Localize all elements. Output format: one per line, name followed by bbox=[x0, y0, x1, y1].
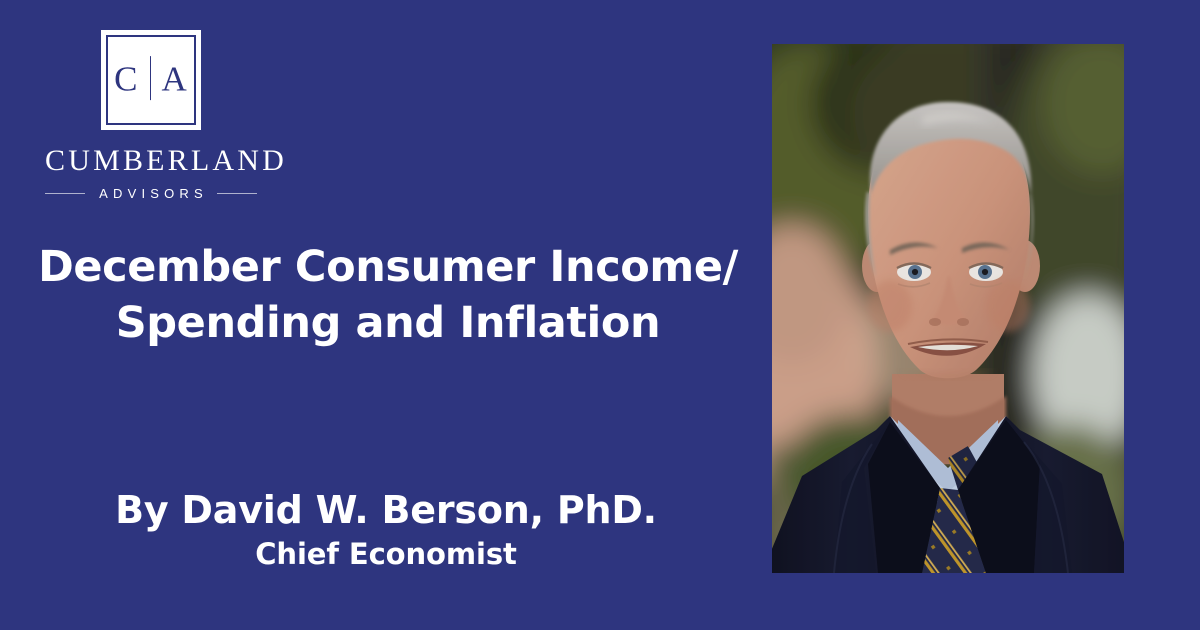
page-title: December Consumer Income/ Spending and I… bbox=[30, 240, 746, 352]
logo-monogram-divider bbox=[150, 56, 151, 100]
logo-monogram-letter-a: A bbox=[162, 60, 188, 99]
logo-monogram-letter-c: C bbox=[114, 60, 138, 99]
page-title-line-1: December Consumer Income/ bbox=[30, 240, 746, 296]
logo-company-name: CUMBERLAND bbox=[45, 146, 257, 176]
logo-rule-left bbox=[45, 193, 85, 194]
author-portrait-photo bbox=[772, 44, 1124, 573]
logo-company-subtitle: ADVISORS bbox=[94, 187, 208, 200]
author-portrait-illustration bbox=[772, 44, 1124, 573]
social-share-card: CA CUMBERLAND ADVISORS December Consumer… bbox=[0, 0, 1200, 630]
cumberland-advisors-logo[interactable]: CA CUMBERLAND ADVISORS bbox=[45, 30, 257, 200]
byline-author-name: By David W. Berson, PhD. bbox=[30, 489, 742, 533]
byline-author-role: Chief Economist bbox=[30, 538, 742, 571]
logo-mark-square: CA bbox=[101, 30, 201, 130]
logo-subtitle-row: ADVISORS bbox=[45, 187, 257, 200]
byline: By David W. Berson, PhD. Chief Economist bbox=[30, 489, 742, 571]
page-title-line-2: Spending and Inflation bbox=[30, 296, 746, 352]
logo-rule-right bbox=[217, 193, 257, 194]
logo-mark-inner-border: CA bbox=[106, 35, 196, 125]
logo-monogram: CA bbox=[108, 57, 194, 101]
